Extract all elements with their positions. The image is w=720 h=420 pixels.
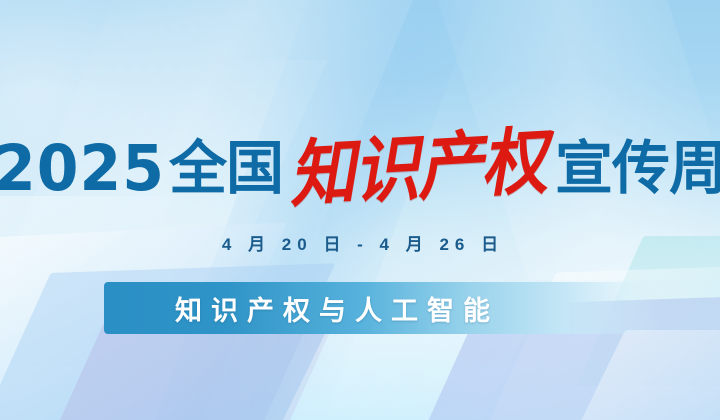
theme-text: 知识产权与人工智能 — [166, 289, 499, 328]
event-dateline: 4 月 20 日 - 4 月 26 日 — [0, 230, 720, 255]
banner-headline: 2025 全国 知识产权 宣传周 — [0, 126, 720, 212]
headline-highlight-ip: 知识产权 — [287, 126, 547, 213]
diagonal-accent-lower — [273, 330, 527, 420]
glass-panel-left-4 — [0, 196, 175, 366]
headline-nationwide: 全国 — [169, 140, 283, 198]
headline-publicity-week: 宣传周 — [555, 140, 720, 198]
glass-panel-right-4 — [567, 330, 720, 420]
headline-year: 2025 — [0, 137, 165, 201]
theme-bar: 知识产权与人工智能 — [104, 282, 664, 334]
ip-week-banner: 2025 全国 知识产权 宣传周 4 月 20 日 - 4 月 26 日 知识产… — [0, 0, 720, 420]
